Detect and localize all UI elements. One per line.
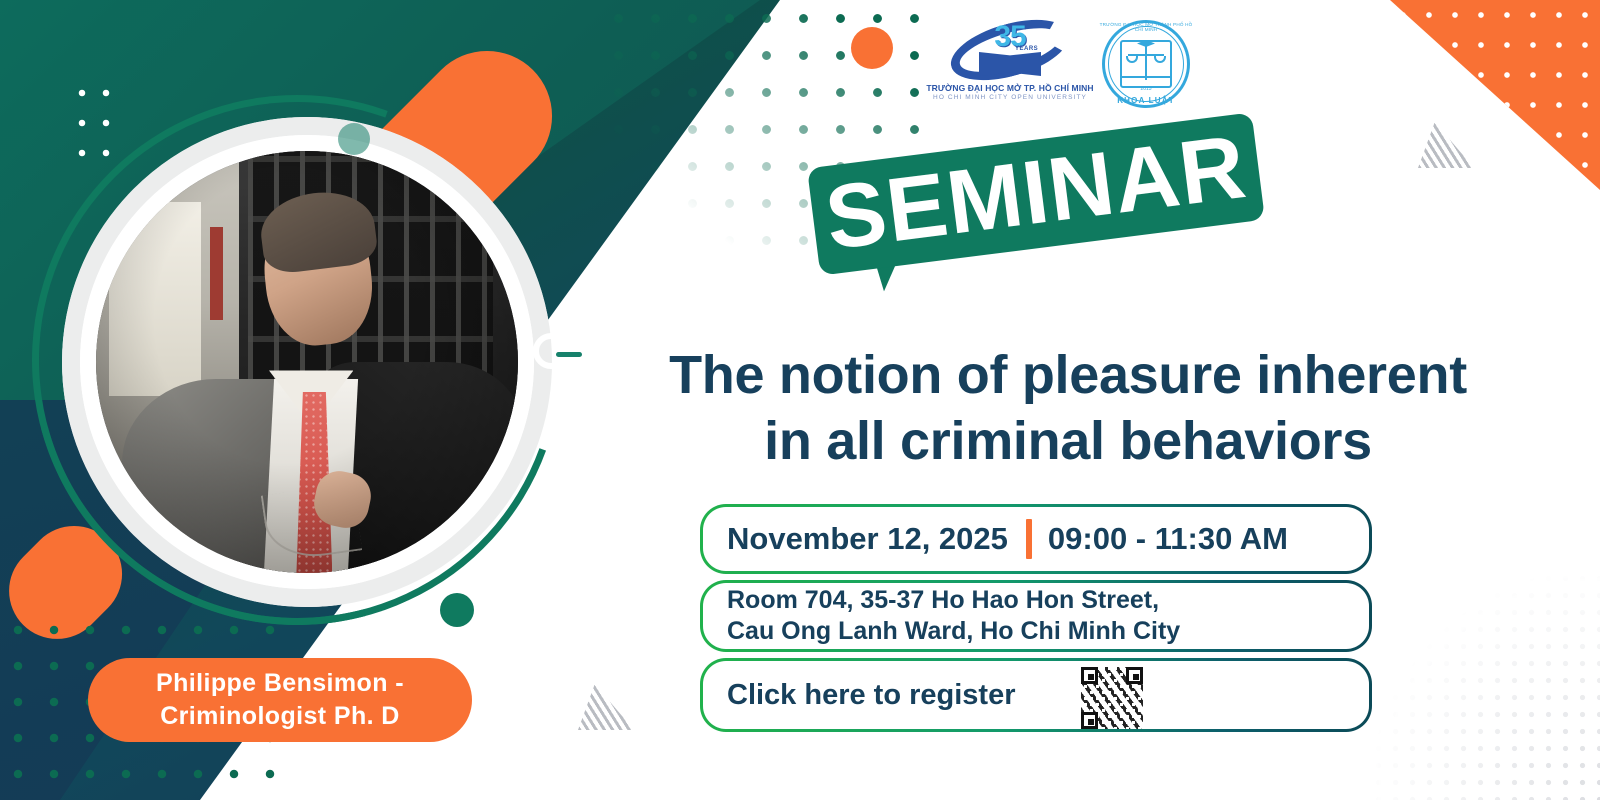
- date-time-box: November 12, 2025 09:00 - 11:30 AM: [700, 504, 1372, 574]
- striped-triangle-icon: [578, 684, 634, 730]
- avatar: [96, 151, 518, 573]
- page-title: The notion of pleasure inherent in all c…: [576, 342, 1560, 474]
- register-box[interactable]: Click here to register: [700, 658, 1372, 732]
- speaker-name-line2: Criminologist Ph. D: [160, 702, 400, 730]
- seminar-poster: Philippe Bensimon - Criminologist Ph. D …: [0, 0, 1600, 800]
- ring-node-solid-green: [440, 593, 474, 627]
- speaker-portrait-frame: [22, 95, 582, 655]
- qr-finder-top-right: [1126, 667, 1143, 684]
- ring-node-hollow-right: [533, 333, 569, 369]
- event-time: 09:00 - 11:30 AM: [1048, 521, 1288, 557]
- seal-top-text: TRƯỜNG ĐẠI HỌC MỞ THÀNH PHỐ HỒ CHÍ MINH: [1096, 22, 1196, 32]
- qr-code[interactable]: [1081, 667, 1143, 729]
- seal-year: 2015: [1096, 86, 1196, 92]
- anniversary-word: YEARS: [1015, 46, 1038, 52]
- open-university-logo: 35 YEARS TRƯỜNG ĐẠI HỌC MỞ TP. HỒ CHÍ MI…: [920, 12, 1100, 118]
- anniversary-number: 35: [975, 18, 1045, 58]
- orange-circle-decoration: [851, 27, 893, 69]
- seminar-ribbon-banner: SEMINAR: [812, 118, 1282, 298]
- law-faculty-seal-logo: TRƯỜNG ĐẠI HỌC MỞ THÀNH PHỐ HỒ CHÍ MINH …: [1096, 14, 1196, 114]
- book-icon: [1122, 76, 1170, 86]
- speaker-name-line1: Philippe Bensimon -: [156, 669, 404, 697]
- grey-dot-pattern-bottom-right: [1370, 570, 1600, 800]
- event-address: Room 704, 35-37 Ho Hao Hon Street, Cau O…: [703, 585, 1180, 647]
- register-link-label[interactable]: Click here to register: [703, 679, 1016, 712]
- seminar-label: SEMINAR: [807, 112, 1265, 275]
- university-name-vi: TRƯỜNG ĐẠI HỌC MỞ TP. HỒ CHÍ MINH: [920, 83, 1100, 93]
- title-line-1: The notion of pleasure inherent: [669, 345, 1467, 405]
- scales-post-icon: [1145, 46, 1147, 80]
- location-box: Room 704, 35-37 Ho Hao Hon Street, Cau O…: [700, 580, 1372, 652]
- ring-node-soft-green: [338, 123, 370, 155]
- address-line-2: Cau Ong Lanh Ward, Ho Chi Minh City: [727, 617, 1180, 645]
- university-name-en: HO CHI MINH CITY OPEN UNIVERSITY: [920, 94, 1100, 101]
- orange-separator: [1026, 519, 1032, 559]
- qr-finder-bottom-left: [1081, 712, 1098, 729]
- striped-triangle-icon: [1418, 122, 1474, 168]
- address-line-1: Room 704, 35-37 Ho Hao Hon Street,: [727, 586, 1159, 614]
- open-university-mark-icon: 35 YEARS: [945, 12, 1075, 82]
- logo-row: 35 YEARS TRƯỜNG ĐẠI HỌC MỞ TP. HỒ CHÍ MI…: [900, 8, 1200, 118]
- speaker-name-badge: Philippe Bensimon - Criminologist Ph. D: [88, 658, 472, 742]
- event-date: November 12, 2025: [703, 521, 1008, 557]
- seal-bottom-text: KHOA LUẬT: [1096, 96, 1196, 105]
- portrait-image: [96, 151, 518, 573]
- title-line-2: in all criminal behaviors: [576, 408, 1560, 474]
- qr-finder-top-left: [1081, 667, 1098, 684]
